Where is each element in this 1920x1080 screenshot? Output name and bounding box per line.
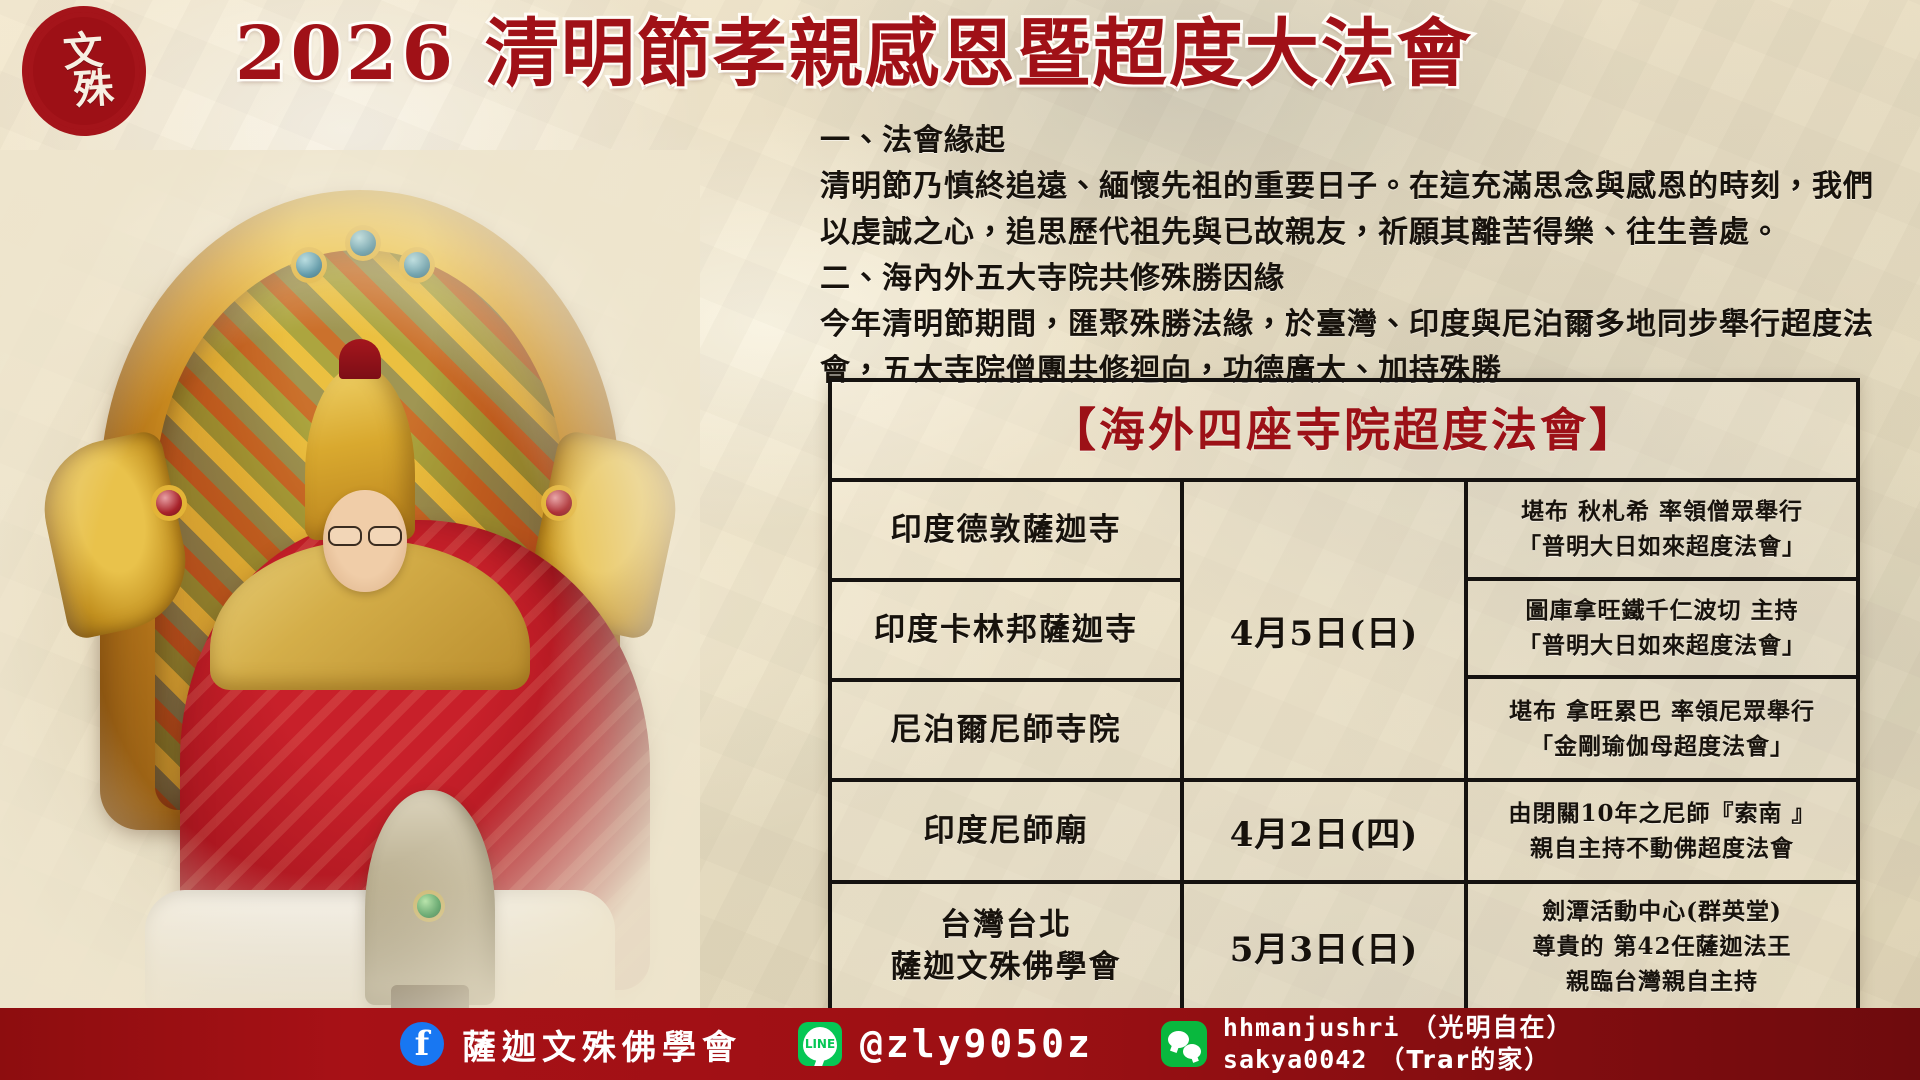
throne-gem [296, 252, 322, 278]
throne-illustration [60, 190, 660, 980]
detail-line: 堪布 拿旺累巴 率領尼眾舉行 [1509, 694, 1815, 729]
detail-line: 劍潭活動中心(群英堂) [1542, 894, 1782, 929]
table-cell-detail: 堪布 秋札希 率領僧眾舉行 「普明大日如來超度法會」 [1468, 482, 1856, 581]
detail-line: 堪布 秋札希 率領僧眾舉行 [1521, 494, 1803, 529]
temple-name: 印度卡林邦薩迦寺 [874, 609, 1138, 651]
temple-name: 印度尼師廟 [832, 782, 1184, 880]
detail-column: 堪布 秋札希 率領僧眾舉行 「普明大日如來超度法會」 圖庫拿旺鐵千仁波切 主持 … [1468, 482, 1856, 778]
wechat-line-1: hhmanjushri （光明自在） [1223, 1012, 1574, 1044]
temple-name-column: 印度德敦薩迦寺 印度卡林邦薩迦寺 尼泊爾尼師寺院 [832, 482, 1184, 778]
facebook-entry[interactable]: f 薩迦文殊佛學會 [400, 1020, 742, 1069]
social-footer-bar: f 薩迦文殊佛學會 LINE @zly9050z hhmanjushri （光明… [0, 1008, 1920, 1080]
table-cell-detail: 劍潭活動中心(群英堂) 尊貴的 第42任薩迦法王 親臨台灣親自主持 [1468, 884, 1856, 1008]
line-entry[interactable]: LINE @zly9050z [798, 1022, 1093, 1066]
temple-name: 台灣台北 薩迦文殊佛學會 [832, 884, 1184, 1008]
wechat-id-block: hhmanjushri （光明自在） sakya0042 （Trar的家） [1223, 1012, 1574, 1076]
seal-characters: 文 殊 [54, 32, 114, 111]
glasses-icon [328, 526, 402, 542]
intro-line-5: 今年清明節期間，匯聚殊勝法緣，於臺灣、印度與尼泊爾多地同步舉行超度法 [820, 302, 1880, 348]
wechat-entry[interactable]: hhmanjushri （光明自在） sakya0042 （Trar的家） [1161, 1012, 1574, 1076]
wechat-id-1: hhmanjushri [1223, 1012, 1400, 1044]
lama-portrait-photo [0, 150, 700, 1020]
detail-line: 由閉關10年之尼師『索南 』 [1508, 796, 1815, 831]
statue-gem [417, 894, 441, 918]
table-row: 台灣台北 薩迦文殊佛學會 5月3日(日) 劍潭活動中心(群英堂) 尊貴的 第42… [832, 884, 1856, 1008]
table-cell-detail: 堪布 拿旺累巴 率領尼眾舉行 「金剛瑜伽母超度法會」 [1468, 679, 1856, 778]
facebook-label: 薩迦文殊佛學會 [462, 1020, 742, 1069]
table-group-shared-date: 印度德敦薩迦寺 印度卡林邦薩迦寺 尼泊爾尼師寺院 4月5日(日) 堪布 秋札希 … [832, 482, 1856, 782]
table-row: 印度尼師廟 4月2日(四) 由閉關10年之尼師『索南 』 親自主持不動佛超度法會 [832, 782, 1856, 884]
wechat-bubble-small [1183, 1044, 1201, 1059]
throne-gem [404, 252, 430, 278]
temple-name: 印度德敦薩迦寺 [891, 509, 1122, 551]
wechat-icon[interactable] [1161, 1021, 1207, 1067]
intro-line-4: 二、海內外五大寺院共修殊勝因緣 [820, 256, 1880, 302]
intro-line-3: 以虔誠之心，追思歷代祖先與已故親友，祈願其離苦得樂、往生善處。 [820, 210, 1880, 256]
seal-char-2: 殊 [73, 69, 115, 109]
detail-line: 親自主持不動佛超度法會 [1530, 831, 1794, 866]
facebook-glyph: f [415, 1027, 430, 1061]
line-icon[interactable]: LINE [798, 1022, 842, 1066]
introduction-text: 一、法會緣起 清明節乃慎終追遠、緬懷先祖的重要日子。在這充滿思念與感恩的時刻，我… [820, 118, 1880, 394]
event-date: 4月2日(四) [1184, 782, 1468, 880]
table-row: 尼泊爾尼師寺院 [832, 682, 1180, 778]
detail-line: 「金剛瑜伽母超度法會」 [1530, 729, 1794, 764]
detail-line: 圖庫拿旺鐵千仁波切 主持 [1525, 593, 1798, 628]
intro-line-1: 一、法會緣起 [820, 118, 1880, 164]
intro-line-2: 清明節乃慎終追遠、緬懷先祖的重要日子。在這充滿思念與感恩的時刻，我們 [820, 164, 1880, 210]
detail-line: 「普明大日如來超度法會」 [1518, 628, 1806, 663]
throne-gem [546, 490, 572, 516]
table-row: 印度德敦薩迦寺 [832, 482, 1180, 582]
throne-gem [350, 230, 376, 256]
wechat-name-1: （光明自在） [1411, 1012, 1573, 1044]
temple-name-line-1: 台灣台北 [940, 904, 1072, 946]
temple-name: 尼泊爾尼師寺院 [891, 709, 1122, 751]
poster-canvas: 文 殊 2026 清明節孝親感恩暨超度大法會 [0, 0, 1920, 1080]
detail-line: 尊貴的 第42任薩迦法王 [1532, 929, 1791, 964]
poster-headline: 2026 清明節孝親感恩暨超度大法會 [235, 8, 1855, 100]
detail-line: 親臨台灣親自主持 [1566, 964, 1758, 999]
facebook-icon[interactable]: f [400, 1022, 444, 1066]
temple-name-line-2: 薩迦文殊佛學會 [891, 946, 1122, 988]
event-date: 5月3日(日) [1184, 884, 1468, 1008]
headline-year: 2026 [235, 11, 457, 97]
wechat-id-2: sakya0042 [1223, 1044, 1367, 1076]
line-glyph: LINE [805, 1037, 835, 1051]
detail-line: 「普明大日如來超度法會」 [1518, 529, 1806, 564]
organization-seal-logo: 文 殊 [18, 2, 151, 140]
table-cell-detail: 由閉關10年之尼師『索南 』 親自主持不動佛超度法會 [1468, 782, 1856, 880]
wechat-line-2: sakya0042 （Trar的家） [1223, 1044, 1574, 1076]
schedule-table: 【海外四座寺院超度法會】 印度德敦薩迦寺 印度卡林邦薩迦寺 尼泊爾尼師寺院 4月… [828, 378, 1860, 1012]
table-cell-detail: 圖庫拿旺鐵千仁波切 主持 「普明大日如來超度法會」 [1468, 581, 1856, 680]
wechat-name-2: （Trar的家） [1379, 1044, 1551, 1076]
table-title: 【海外四座寺院超度法會】 [832, 382, 1856, 482]
headline-text: 清明節孝親感恩暨超度大法會 [485, 11, 1473, 97]
shared-date-cell: 4月5日(日) [1184, 482, 1468, 778]
line-id-label: @zly9050z [860, 1022, 1093, 1066]
throne-gem [156, 490, 182, 516]
table-row: 印度卡林邦薩迦寺 [832, 582, 1180, 682]
